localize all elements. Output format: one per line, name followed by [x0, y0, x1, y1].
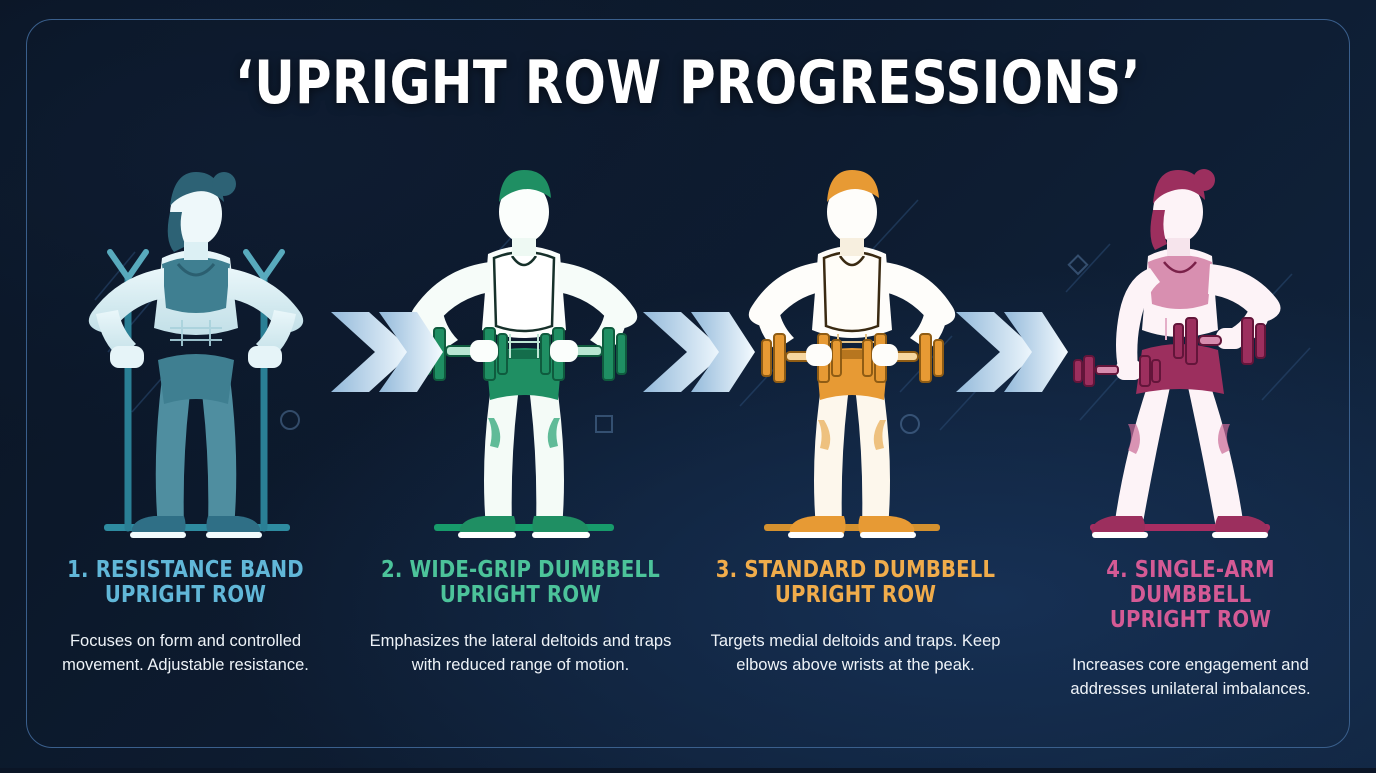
captions-row: 1. RESISTANCE BAND UPRIGHT ROW Focuses o… [18, 558, 1358, 702]
step-description-1: Focuses on form and controlled movement.… [32, 630, 339, 678]
page-title: ‘UPRIGHT ROW PROGRESSIONS’ [55, 48, 1321, 118]
step-heading-1: 1. RESISTANCE BAND UPRIGHT ROW [40, 558, 332, 608]
step-heading-line1: 2. WIDE-GRIP DUMBBELL [381, 557, 660, 583]
step-heading-4: 4. SINGLE-ARM DUMBBELL UPRIGHT ROW [1045, 558, 1337, 632]
caption-3: 3. STANDARD DUMBBELL UPRIGHT ROW Targets… [688, 558, 1023, 702]
progression-arrow-3 [950, 300, 1070, 404]
caption-2: 2. WIDE-GRIP DUMBBELL UPRIGHT ROW Emphas… [353, 558, 688, 702]
caption-1: 1. RESISTANCE BAND UPRIGHT ROW Focuses o… [18, 558, 353, 702]
figure-resistance-band [32, 128, 360, 548]
caption-4: 4. SINGLE-ARM DUMBBELL UPRIGHT ROW Incre… [1023, 558, 1358, 702]
step-heading-3: 3. STANDARD DUMBBELL UPRIGHT ROW [710, 558, 1002, 608]
progression-arrow-2 [637, 300, 757, 404]
step-heading-line2: UPRIGHT ROW [775, 582, 936, 608]
step-description-3: Targets medial deltoids and traps. Keep … [702, 630, 1009, 678]
step-heading-line2: UPRIGHT ROW [105, 582, 266, 608]
step-heading-line2: UPRIGHT ROW [1110, 607, 1271, 633]
step-description-2: Emphasizes the lateral deltoids and trap… [367, 630, 674, 678]
progression-arrow-1 [325, 300, 445, 404]
figure-column-1 [32, 128, 360, 548]
step-heading-line1: 4. SINGLE-ARM DUMBBELL [1106, 557, 1275, 608]
step-description-4: Increases core engagement and addresses … [1037, 654, 1344, 702]
step-heading-line1: 3. STANDARD DUMBBELL [716, 557, 995, 583]
step-heading-line2: UPRIGHT ROW [440, 582, 601, 608]
step-heading-2: 2. WIDE-GRIP DUMBBELL UPRIGHT ROW [375, 558, 667, 608]
step-heading-line1: 1. RESISTANCE BAND [67, 557, 304, 583]
